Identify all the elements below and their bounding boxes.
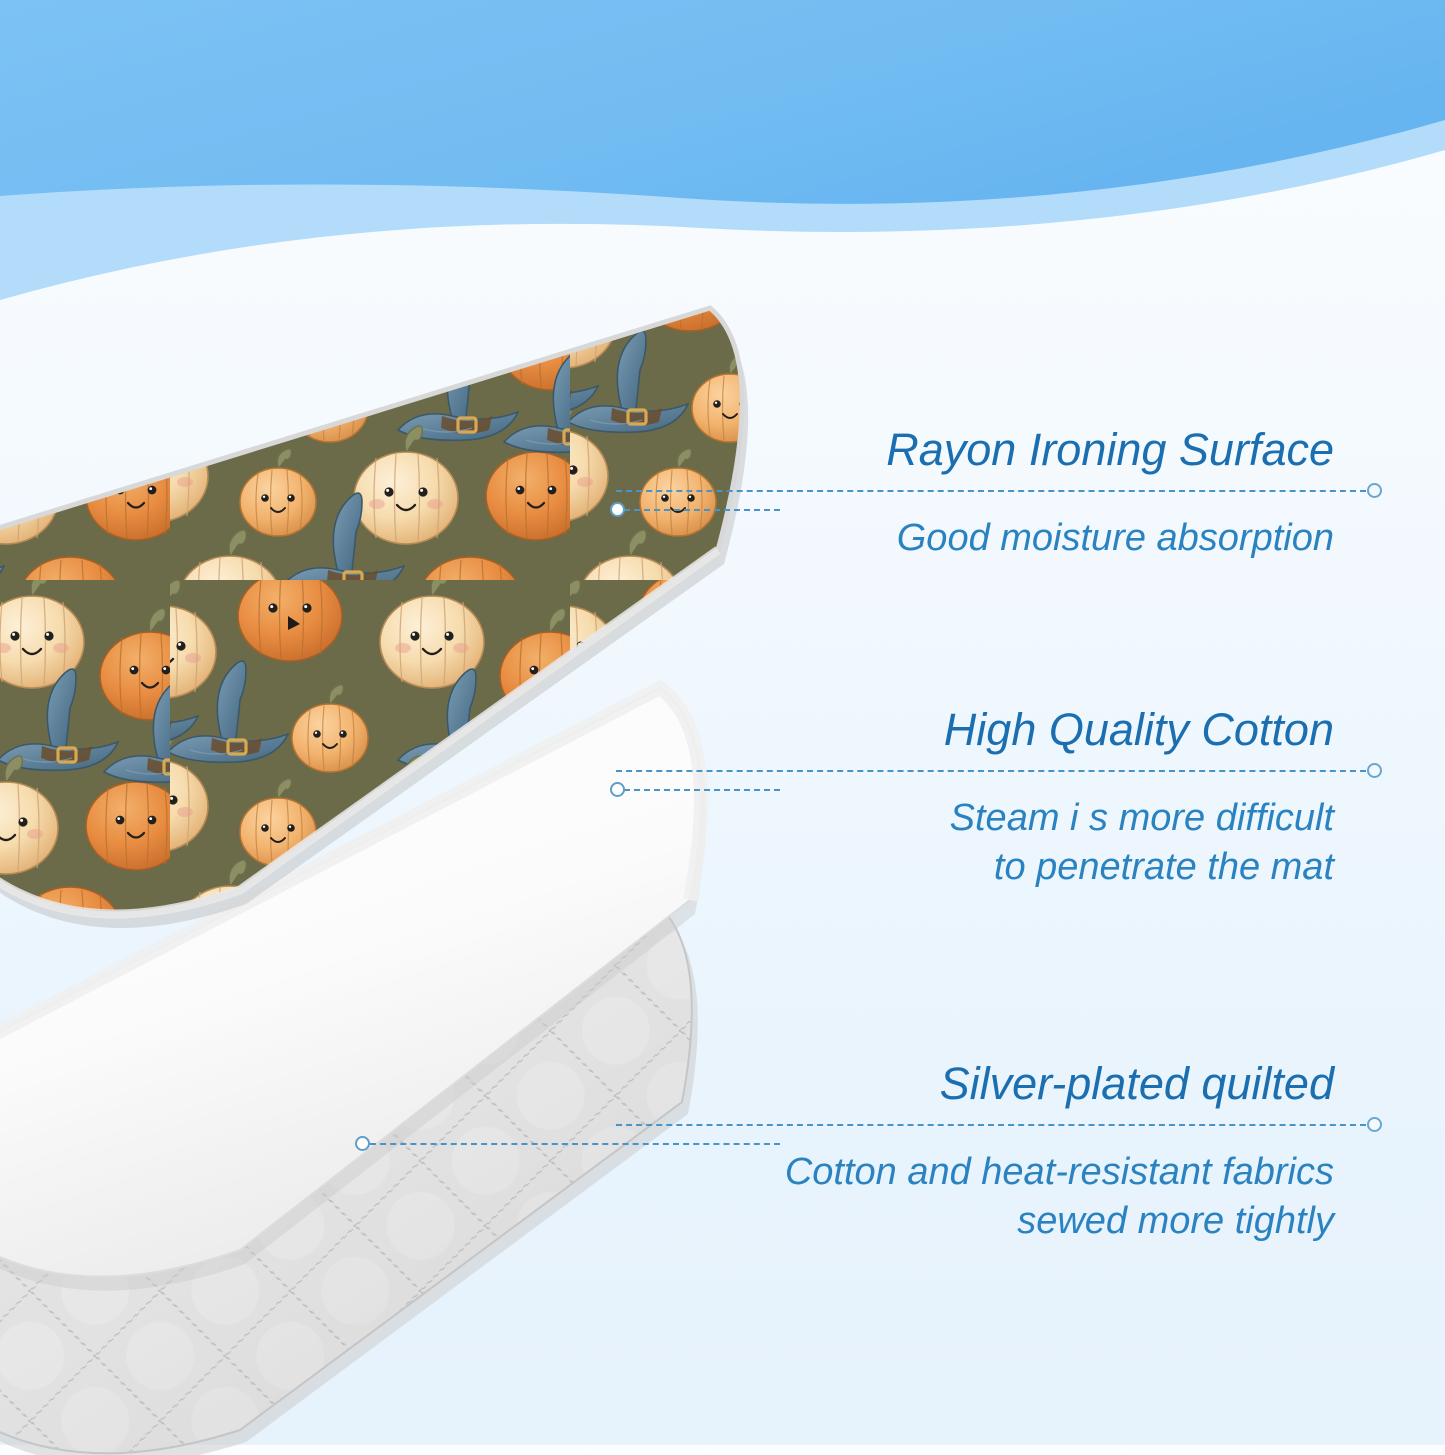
callout-3-subtitle-line-2: sewed more tightly (770, 1197, 1334, 1246)
callout-3-subtitle: Cotton and heat-resistant fabrics sewed … (770, 1140, 1390, 1247)
callout-3-dashed-rule (616, 1124, 1366, 1126)
callout-1-endcap-circle-icon (1367, 483, 1382, 498)
callout-3-title: Silver-plated quilted (770, 1058, 1390, 1110)
callout-high-quality-cotton: High Quality Cotton Steam i s more diffi… (770, 704, 1390, 893)
callout-rayon-ironing-surface: Rayon Ironing Surface Good moisture abso… (770, 424, 1390, 563)
callout-2-subtitle-line-1: Steam i s more difficult (770, 794, 1334, 843)
leader-line-1 (624, 509, 780, 511)
callout-3-endcap-circle-icon (1367, 1117, 1382, 1132)
leader-anchor-dot-2 (610, 782, 625, 797)
leader-line-3 (370, 1143, 780, 1145)
callout-1-dashed-rule (616, 490, 1366, 492)
header-banner (0, 0, 1445, 300)
callout-2-title: High Quality Cotton (770, 704, 1390, 756)
callout-2-subtitle-line-2: to penetrate the mat (770, 843, 1334, 892)
callout-2-divider (770, 756, 1390, 786)
callout-2-dashed-rule (616, 770, 1366, 772)
callout-1-title: Rayon Ironing Surface (770, 424, 1390, 476)
leader-anchor-dot-3 (355, 1136, 370, 1151)
callout-3-divider (770, 1110, 1390, 1140)
product-layer-stack-illustration (0, 250, 890, 1450)
leader-line-2 (624, 789, 780, 791)
callout-1-divider (770, 476, 1390, 506)
callout-silver-plated-quilted: Silver-plated quilted Cotton and heat-re… (770, 1058, 1390, 1247)
callout-2-subtitle: Steam i s more difficult to penetrate th… (770, 786, 1390, 893)
callout-2-endcap-circle-icon (1367, 763, 1382, 778)
callout-1-subtitle-line-1: Good moisture absorption (770, 514, 1334, 563)
callout-3-subtitle-line-1: Cotton and heat-resistant fabrics (770, 1148, 1334, 1197)
leader-anchor-dot-1 (610, 502, 625, 517)
callout-1-subtitle: Good moisture absorption (770, 506, 1390, 563)
